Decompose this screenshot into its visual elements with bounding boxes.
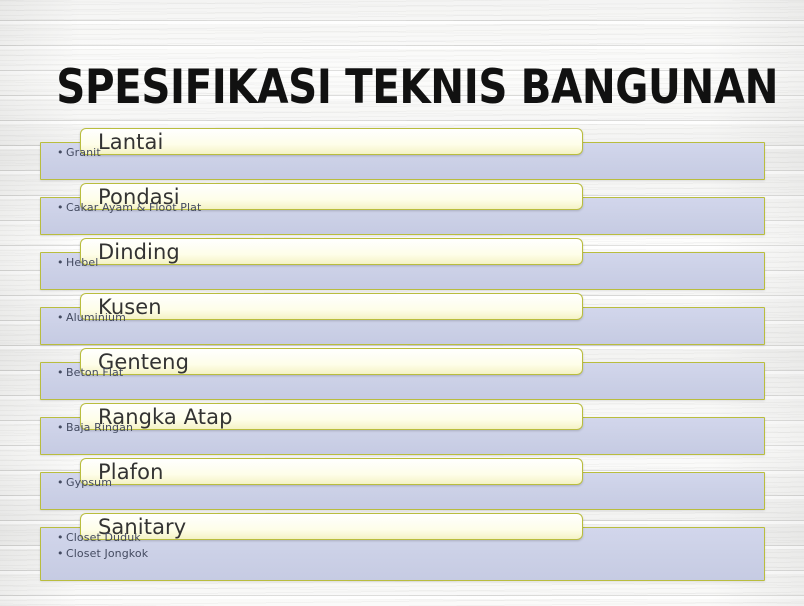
spec-bullet-label: Beton Flat [66, 366, 123, 379]
spec-bullet-label: Baja Ringan [66, 421, 133, 434]
spec-group-bullets: •Hebel [57, 255, 98, 271]
spec-group-title: Lantai [98, 129, 163, 156]
spec-group-header[interactable]: Plafon [80, 458, 583, 485]
spec-group-header[interactable]: Dinding [80, 238, 583, 265]
bullet-dot-icon: • [57, 546, 66, 562]
spec-bullet-label: Granit [66, 146, 101, 159]
spec-group-header[interactable]: Kusen [80, 293, 583, 320]
spec-bullet-item: •Beton Flat [57, 365, 123, 381]
spec-bullet-label: Closet Duduk [66, 531, 141, 544]
spec-group-header[interactable]: Sanitary [80, 513, 583, 540]
bullet-dot-icon: • [57, 200, 66, 216]
spec-group-bullets: •Baja Ringan [57, 420, 133, 436]
spec-bullet-label: Closet Jongkok [66, 547, 148, 560]
spec-bullet-label: Hebel [66, 256, 98, 269]
spec-group-header[interactable]: Lantai [80, 128, 583, 155]
spec-group-bullets: •Beton Flat [57, 365, 123, 381]
spec-bullet-label: Aluminium [66, 311, 126, 324]
bullet-dot-icon: • [57, 420, 66, 436]
spec-bullet-label: Cakar Ayam & Floot Plat [66, 201, 201, 214]
bullet-dot-icon: • [57, 365, 66, 381]
specification-list: Lantai•GranitPondasi•Cakar Ayam & Floot … [0, 0, 804, 606]
spec-bullet-item: •Closet Duduk [57, 530, 148, 546]
spec-bullet-item: •Closet Jongkok [57, 546, 148, 562]
spec-bullet-item: •Gypsum [57, 475, 112, 491]
spec-group-header[interactable]: Genteng [80, 348, 583, 375]
spec-bullet-label: Gypsum [66, 476, 112, 489]
spec-bullet-item: •Baja Ringan [57, 420, 133, 436]
bullet-dot-icon: • [57, 530, 66, 546]
spec-group-header[interactable]: Rangka Atap [80, 403, 583, 430]
spec-group-title: Dinding [98, 239, 180, 266]
spec-group-bullets: •Gypsum [57, 475, 112, 491]
spec-bullet-item: •Hebel [57, 255, 98, 271]
spec-group-bullets: •Closet Duduk•Closet Jongkok [57, 530, 148, 562]
spec-bullet-item: •Cakar Ayam & Floot Plat [57, 200, 201, 216]
spec-group-bullets: •Granit [57, 145, 101, 161]
spec-group-bullets: •Cakar Ayam & Floot Plat [57, 200, 201, 216]
bullet-dot-icon: • [57, 145, 66, 161]
bullet-dot-icon: • [57, 310, 66, 326]
spec-group-bullets: •Aluminium [57, 310, 126, 326]
bullet-dot-icon: • [57, 255, 66, 271]
slide-canvas: SPESIFIKASI TEKNIS BANGUNAN Lantai•Grani… [0, 0, 804, 606]
bullet-dot-icon: • [57, 475, 66, 491]
spec-bullet-item: •Granit [57, 145, 101, 161]
spec-bullet-item: •Aluminium [57, 310, 126, 326]
